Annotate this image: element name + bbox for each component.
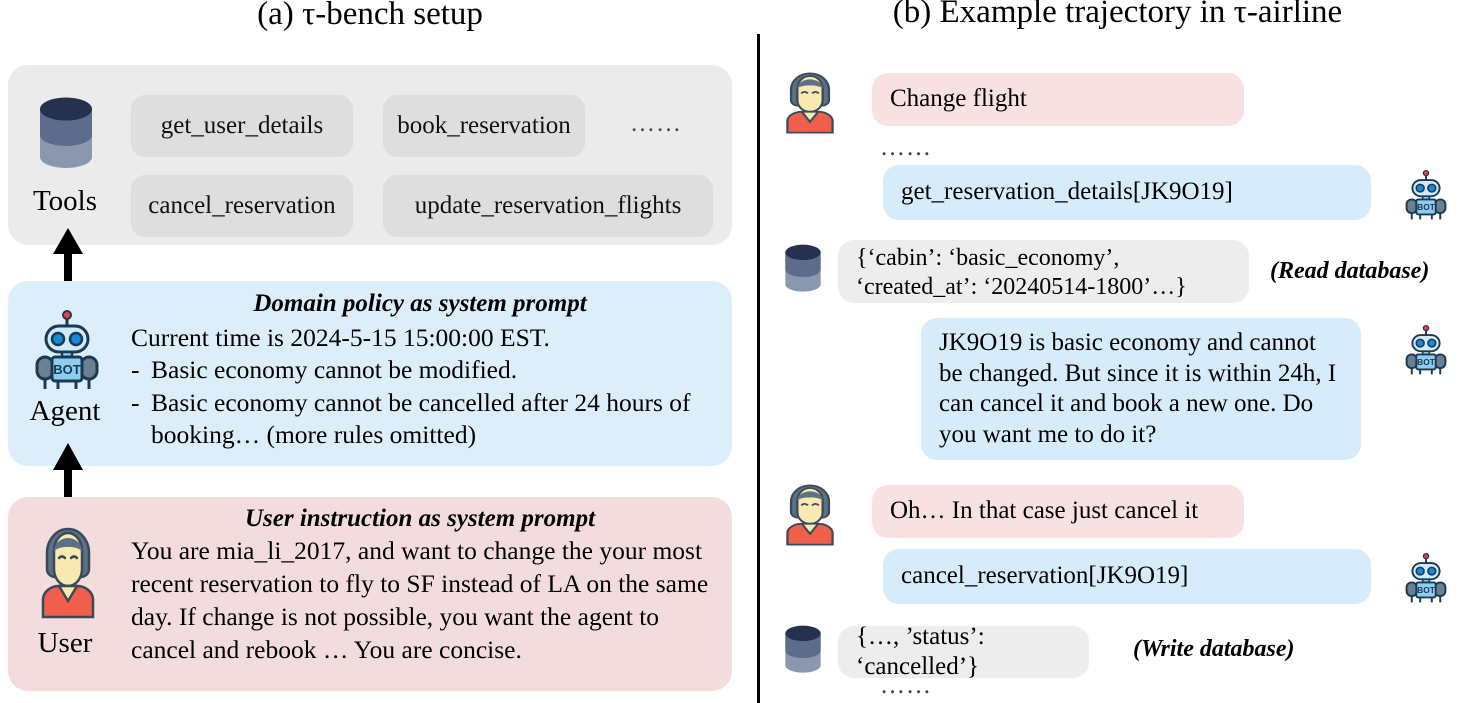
vertical-divider: [757, 34, 760, 703]
trajectory-ellipsis: ……: [880, 672, 932, 700]
database-cylinder-icon: [784, 243, 822, 295]
user-avatar-icon: [782, 484, 838, 546]
user-label: User: [10, 627, 120, 660]
robot-bot-icon: BOT: [33, 310, 101, 390]
tool-pill-cancel-reservation[interactable]: cancel_reservation: [131, 175, 353, 237]
agent-panel-header: Domain policy as system prompt: [130, 290, 710, 318]
robot-bot-icon: BOT: [1404, 553, 1448, 603]
svg-text:BOT: BOT: [1417, 358, 1435, 367]
read-database-note: (Read database): [1270, 258, 1429, 285]
database-cylinder-icon: [38, 95, 94, 173]
db-read-line-2: ‘created_at’: ‘20240514-1800’…}: [856, 273, 1187, 302]
agent-policy-intro: Current time is 2024-5-15 15:00:00 EST.: [131, 322, 726, 354]
tool-pill-get-user-details[interactable]: get_user_details: [131, 95, 353, 157]
chat-bubble-user: Oh… In that case just cancel it: [872, 485, 1244, 538]
agent-policy-rule-text: Basic economy cannot be cancelled after …: [151, 387, 726, 452]
robot-bot-icon: BOT: [1404, 170, 1448, 220]
robot-bot-icon: BOT: [1404, 325, 1448, 375]
agent-label: Agent: [10, 395, 120, 428]
user-panel-header: User instruction as system prompt: [130, 505, 710, 533]
bullet-dash-icon: -: [131, 354, 151, 386]
agent-policy-rule-text: Basic economy cannot be modified.: [151, 354, 726, 386]
agent-policy-rule: - Basic economy cannot be modified.: [131, 354, 726, 386]
chat-bubble-user: Change flight: [872, 73, 1244, 126]
user-avatar-icon: [782, 72, 838, 134]
bullet-dash-icon: -: [131, 387, 151, 452]
chat-bubble-db-write: {…, ’status’: ‘cancelled’}: [838, 626, 1089, 678]
agent-policy-body: Current time is 2024-5-15 15:00:00 EST. …: [131, 322, 726, 452]
svg-text:BOT: BOT: [53, 362, 81, 377]
user-avatar-icon: [37, 527, 99, 619]
chat-bubble-db-read: {‘cabin’: ‘basic_economy’, ‘created_at’:…: [838, 240, 1249, 303]
chat-bubble-bot-toolcall: get_reservation_details[JK9O19]: [883, 165, 1371, 220]
tools-ellipsis: ……: [630, 110, 682, 138]
tool-pill-book-reservation[interactable]: book_reservation: [383, 95, 585, 157]
agent-policy-rule: - Basic economy cannot be cancelled afte…: [131, 387, 726, 452]
database-cylinder-icon: [784, 624, 822, 676]
trajectory-ellipsis: ……: [880, 134, 932, 162]
chat-bubble-bot-toolcall: cancel_reservation[JK9O19]: [883, 549, 1371, 604]
figure-title-b: (b) Example trajectory in τ-airline: [770, 0, 1465, 31]
svg-text:BOT: BOT: [1417, 203, 1435, 212]
user-instruction-body: You are mia_li_2017, and want to change …: [131, 534, 726, 667]
db-read-line-1: {‘cabin’: ‘basic_economy’,: [856, 244, 1187, 273]
svg-text:BOT: BOT: [1417, 586, 1435, 595]
chat-bubble-bot-reply: JK9O19 is basic economy and cannot be ch…: [921, 318, 1361, 460]
tools-label: Tools: [10, 185, 120, 218]
figure-title-a: (a) τ-bench setup: [0, 0, 740, 33]
write-database-note: (Write database): [1133, 636, 1295, 663]
tool-pill-update-reservation-flights[interactable]: update_reservation_flights: [383, 175, 713, 237]
